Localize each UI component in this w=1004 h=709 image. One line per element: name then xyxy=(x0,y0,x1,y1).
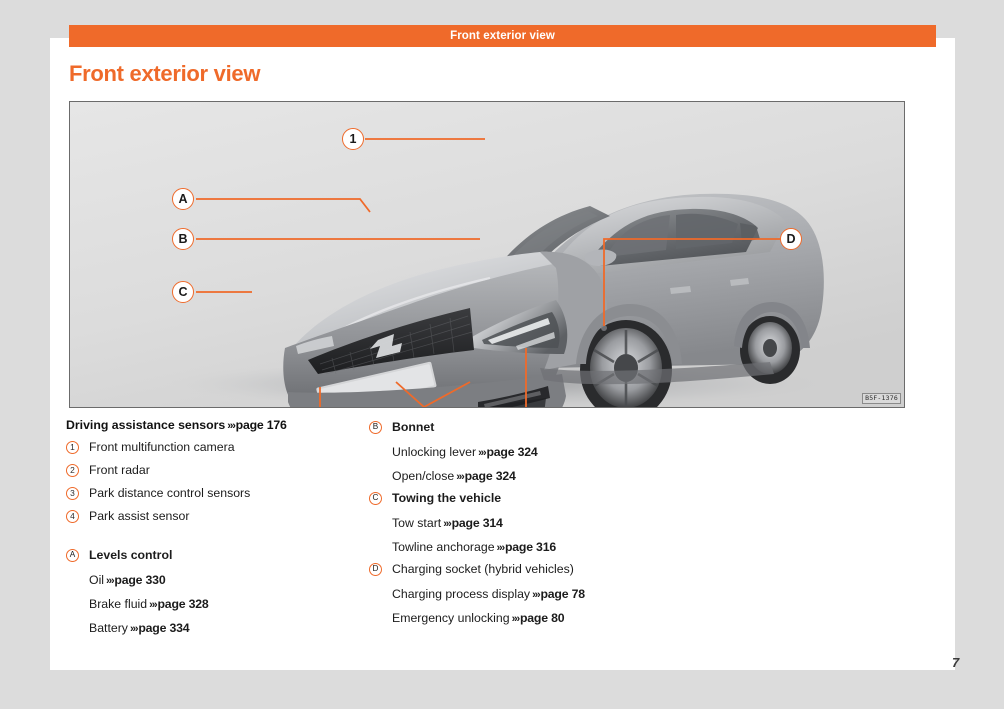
marker-bullet-a: A xyxy=(66,549,79,562)
marker-bullet-4: 4 xyxy=(66,510,79,523)
legend-item-4: 4 Park assist sensor xyxy=(66,507,366,527)
legend-subitem-label: Emergency unlocking xyxy=(392,611,510,625)
legend-group-title-wrap: Charging socket (hybrid vehicles) xyxy=(392,560,789,579)
page-reference[interactable]: page 328 xyxy=(158,597,209,611)
page-reference[interactable]: page 176 xyxy=(236,418,287,432)
legend-group-b: B Bonnet xyxy=(369,418,789,438)
page-reference[interactable]: page 324 xyxy=(486,445,537,459)
chevron-icon: ››› xyxy=(104,575,114,587)
legend-subitem-label: Brake fluid xyxy=(89,597,147,611)
legend-group-title: Charging socket xyxy=(392,562,481,576)
legend-item-label: Front radar xyxy=(89,461,366,480)
figure-marker-a[interactable]: A xyxy=(172,188,194,210)
page-number: 7 xyxy=(952,655,959,670)
legend-heading-text: Driving assistance sensors xyxy=(66,418,225,432)
figure-marker-1[interactable]: 1 xyxy=(342,128,364,150)
legend-subitem-oil: Oil›››page 330 xyxy=(89,569,366,593)
figure-marker-b[interactable]: B xyxy=(172,228,194,250)
marker-bullet-d: D xyxy=(369,563,382,576)
page-reference[interactable]: page 330 xyxy=(114,573,165,587)
legend-subitem-towline-anchorage: Towline anchorage›››page 316 xyxy=(392,536,789,560)
legend-subitem-label: Towline anchorage xyxy=(392,540,495,554)
marker-bullet-c: C xyxy=(369,492,382,505)
legend-group-title: Towing the vehicle xyxy=(392,489,789,508)
figure-marker-d[interactable]: D xyxy=(780,228,802,250)
page-reference[interactable]: page 314 xyxy=(452,516,503,530)
legend-subitem-tow-start: Tow start›››page 314 xyxy=(392,512,789,536)
marker-bullet-b: B xyxy=(369,421,382,434)
legend-subitem-brake-fluid: Brake fluid›››page 328 xyxy=(89,593,366,617)
chevron-icon: ››› xyxy=(147,599,157,611)
legend-subitem-label: Open/close xyxy=(392,469,454,483)
figure-marker-c[interactable]: C xyxy=(172,281,194,303)
vehicle-figure: B5F-1376 1 2 3 4 A B C D xyxy=(69,101,905,408)
legend-group-title: Levels control xyxy=(89,546,366,565)
legend-subitem-battery: Battery›››page 334 xyxy=(89,617,366,641)
legend-item-1: 1 Front multifunction camera xyxy=(66,438,366,458)
running-header-bar: Front exterior view xyxy=(69,25,936,47)
legend-group-c: C Towing the vehicle xyxy=(369,489,789,509)
legend-subitem-label: Unlocking lever xyxy=(392,445,476,459)
page-reference[interactable]: page 316 xyxy=(505,540,556,554)
page-reference[interactable]: page 334 xyxy=(138,621,189,635)
marker-bullet-1: 1 xyxy=(66,441,79,454)
legend-item-2: 2 Front radar xyxy=(66,461,366,481)
marker-bullet-3: 3 xyxy=(66,487,79,500)
marker-bullet-2: 2 xyxy=(66,464,79,477)
legend-subitem-label: Oil xyxy=(89,573,104,587)
chevron-icon: ››› xyxy=(225,420,235,432)
legend-item-3: 3 Park distance control sensors xyxy=(66,484,366,504)
legend-subitem-emergency-unlocking: Emergency unlocking›››page 80 xyxy=(392,607,789,631)
chevron-icon: ››› xyxy=(530,589,540,601)
legend-group-note: (hybrid vehicles) xyxy=(484,562,574,576)
page-reference[interactable]: page 324 xyxy=(465,469,516,483)
legend: Driving assistance sensors›››page 176 1 … xyxy=(66,418,906,641)
page-reference[interactable]: page 80 xyxy=(520,611,564,625)
legend-column-left: Driving assistance sensors›››page 176 1 … xyxy=(66,418,366,641)
vehicle-illustration xyxy=(70,102,904,407)
legend-heading-driving-assistance: Driving assistance sensors›››page 176 xyxy=(66,418,366,432)
figure-code: B5F-1376 xyxy=(862,393,901,404)
chevron-icon: ››› xyxy=(454,471,464,483)
legend-item-label: Park distance control sensors xyxy=(89,484,366,503)
running-header-title: Front exterior view xyxy=(450,30,555,42)
legend-column-right: B Bonnet Unlocking lever›››page 324 Open… xyxy=(369,418,789,641)
page-reference[interactable]: page 78 xyxy=(540,587,584,601)
legend-subitem-label: Battery xyxy=(89,621,128,635)
legend-group-d: D Charging socket (hybrid vehicles) xyxy=(369,560,789,580)
legend-subitem-label: Tow start xyxy=(392,516,441,530)
legend-item-label: Front multifunction camera xyxy=(89,438,366,457)
chevron-icon: ››› xyxy=(441,518,451,530)
chevron-icon: ››› xyxy=(495,542,505,554)
chevron-icon: ››› xyxy=(128,623,138,635)
legend-spacer xyxy=(66,530,366,546)
page-title: Front exterior view xyxy=(69,61,260,87)
legend-subitem-unlocking-lever: Unlocking lever›››page 324 xyxy=(392,441,789,465)
legend-subitem-open-close: Open/close›››page 324 xyxy=(392,465,789,489)
legend-group-title: Bonnet xyxy=(392,418,789,437)
legend-item-label: Park assist sensor xyxy=(89,507,366,526)
chevron-icon: ››› xyxy=(476,447,486,459)
manual-page-root: Front exterior view Front exterior view xyxy=(0,0,1004,709)
legend-subitem-charging-process-display: Charging process display›››page 78 xyxy=(392,583,789,607)
legend-group-a: A Levels control xyxy=(66,546,366,566)
chevron-icon: ››› xyxy=(510,613,520,625)
legend-subitem-label: Charging process display xyxy=(392,587,530,601)
